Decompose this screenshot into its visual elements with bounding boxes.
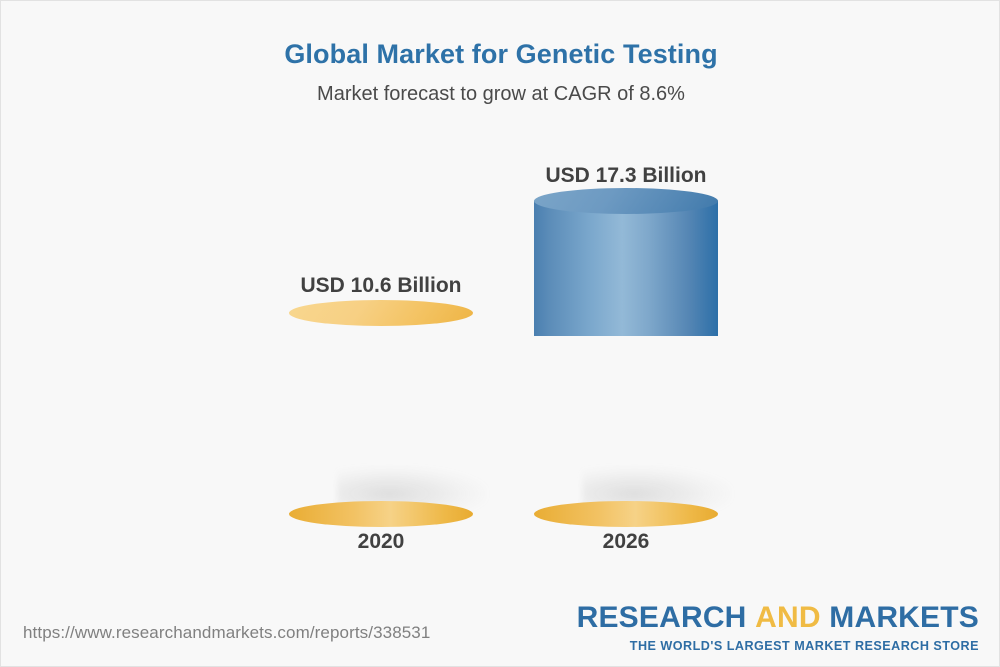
bar-value-label-2020: USD 10.6 Billion (281, 274, 481, 298)
logo-tagline: THE WORLD'S LARGEST MARKET RESEARCH STOR… (577, 640, 979, 653)
segment-top-cap (289, 300, 473, 326)
bar-cylinder-2020[interactable] (289, 313, 473, 514)
segment-body (534, 201, 718, 336)
category-label-2020: 2020 (281, 530, 481, 554)
bar-segment-base-2026[interactable] (534, 336, 718, 514)
segment-bottom-cap (289, 501, 473, 527)
logo-word-and: AND (747, 601, 830, 634)
logo-word-markets: MARKETS (829, 601, 979, 634)
segment-bottom-cap (534, 501, 718, 527)
research-and-markets-logo[interactable]: RESEARCH AND MARKETS THE WORLD'S LARGEST… (577, 603, 979, 653)
source-url[interactable]: https://www.researchandmarkets.com/repor… (23, 623, 430, 643)
segment-body (289, 313, 473, 514)
bar-value-label-2026: USD 17.3 Billion (526, 164, 726, 188)
segment-top-cap (534, 188, 718, 214)
segment-body (534, 336, 718, 514)
bar-segment-growth-2026[interactable] (534, 201, 718, 336)
bar-segment-base-2020[interactable] (289, 313, 473, 514)
logo-word-research: RESEARCH (577, 601, 747, 634)
category-label-2026: 2026 (526, 530, 726, 554)
infographic-card: Global Market for Genetic Testing Market… (0, 0, 1000, 667)
chart-plot-area: USD 10.6 Billion 2020 USD 17.3 Billion (1, 1, 1000, 667)
logo-wordmark: RESEARCH AND MARKETS (577, 603, 979, 633)
bar-cylinder-2026[interactable] (534, 201, 718, 514)
